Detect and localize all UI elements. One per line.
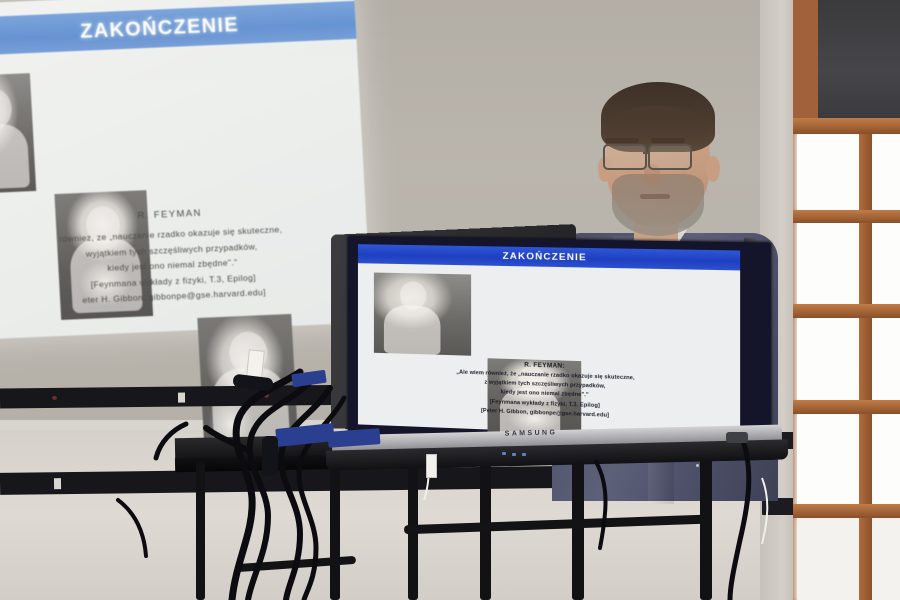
laptop-slide: ZAKOŃCZENIE R. FEYMAN xyxy=(358,244,740,439)
glasses-bridge xyxy=(643,152,650,154)
window-mullion-horizontal xyxy=(793,304,900,318)
presenter-eyebrow-right xyxy=(651,138,685,143)
window-pane xyxy=(797,414,859,506)
window-pane xyxy=(797,222,859,306)
window-blind xyxy=(818,0,900,118)
laptop-slide-title: ZAKOŃCZENIE xyxy=(503,251,587,264)
laptop-screen[interactable]: ZAKOŃCZENIE R. FEYMAN xyxy=(348,236,771,451)
glasses-lens-left xyxy=(603,144,647,170)
window-pane xyxy=(871,516,900,600)
window-mullion-vertical xyxy=(859,120,872,600)
cable-ferrite xyxy=(262,436,278,476)
window-mullion-horizontal xyxy=(793,400,900,414)
feynman-photo xyxy=(374,273,471,356)
window-pane xyxy=(797,134,859,210)
presenter-eyebrow-left xyxy=(605,138,639,143)
window-pane xyxy=(871,132,900,210)
laptop-status-led xyxy=(502,452,506,455)
laptop-slide-body: „Ale wiem również, że „nauczanie rzadko … xyxy=(358,365,740,425)
presenter-mouth xyxy=(640,194,670,199)
feynman-photo xyxy=(0,73,36,194)
projected-slide-title: ZAKOŃCZENIE xyxy=(80,13,240,43)
laptop-slide-titlebar: ZAKOŃCZENIE xyxy=(358,244,740,270)
window-pane xyxy=(871,316,900,402)
table-leg xyxy=(572,460,584,600)
window-mullion-horizontal xyxy=(793,210,900,223)
table-leg xyxy=(330,462,340,600)
cable-plug xyxy=(726,432,748,443)
window-pane xyxy=(797,518,859,600)
glasses-lens-right xyxy=(648,144,692,170)
laptop-status-led xyxy=(512,453,516,456)
window-mullion-horizontal xyxy=(793,504,900,518)
table-leg xyxy=(196,462,205,600)
window-pane xyxy=(871,220,900,306)
table-leg xyxy=(700,458,712,600)
screenshot-root: ZAKOŃCZENIE R. FEYMAN równiez, ze „naucz… xyxy=(0,0,900,600)
projected-slide-photos xyxy=(0,55,351,210)
laptop-status-led xyxy=(522,453,526,456)
window-pane xyxy=(871,412,900,506)
window-sill xyxy=(793,118,900,134)
presenter-ear-right xyxy=(706,156,720,182)
window-pane xyxy=(797,318,859,402)
laptop-slide-photos xyxy=(374,273,718,364)
cable-label-tag xyxy=(426,454,437,478)
